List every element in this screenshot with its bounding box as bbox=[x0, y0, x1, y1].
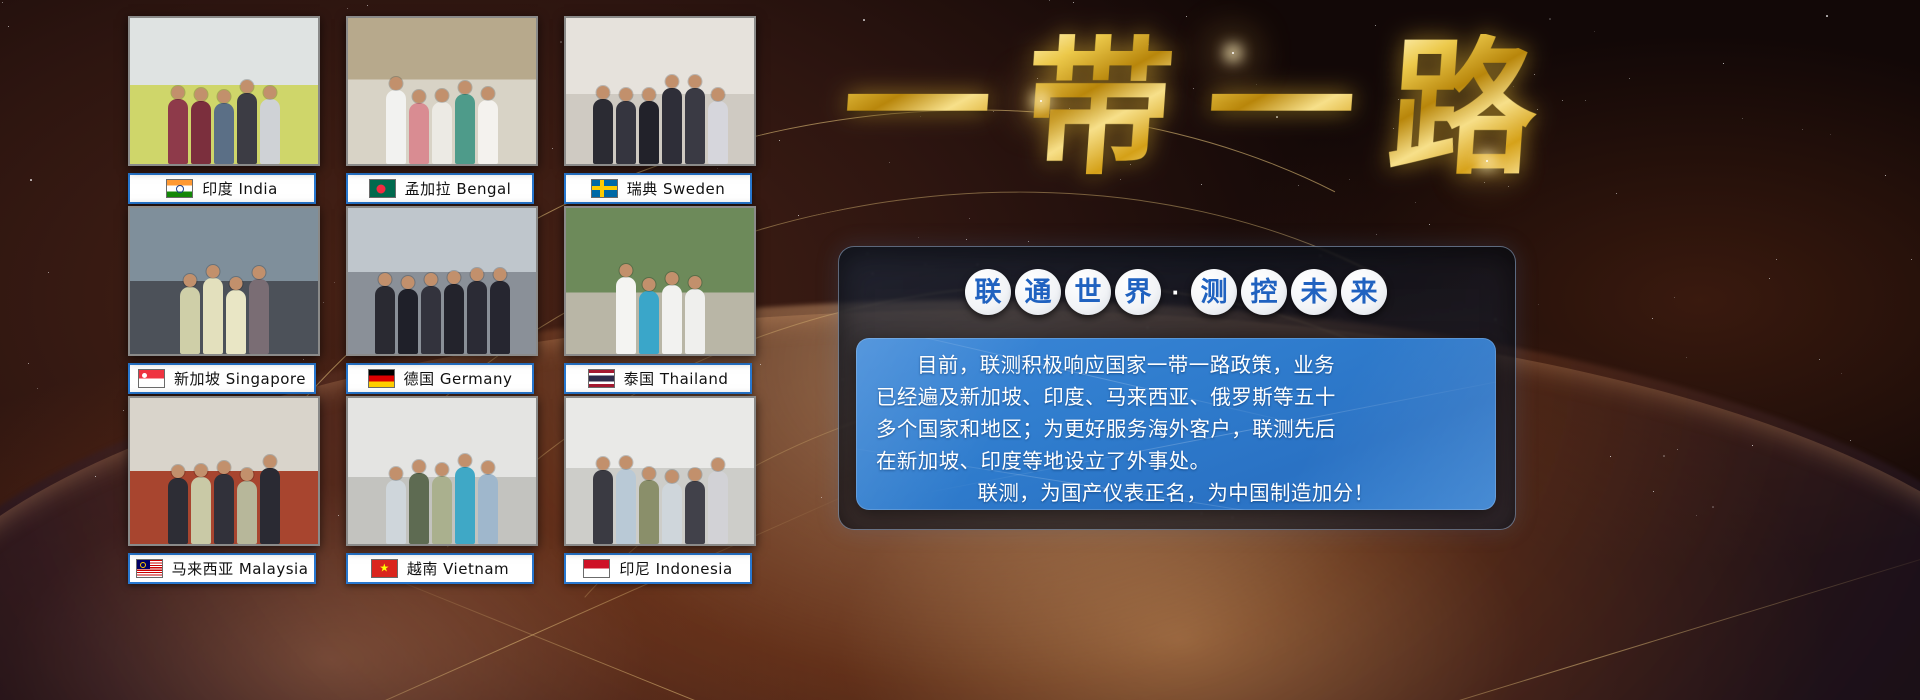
photo-person bbox=[639, 480, 659, 544]
slogan-separator: · bbox=[1165, 279, 1187, 305]
star-dot bbox=[1653, 491, 1654, 492]
country-label: 越南 Vietnam bbox=[407, 558, 509, 579]
slogan-badge: 世 bbox=[1065, 269, 1111, 315]
country-caption[interactable]: 印尼 Indonesia bbox=[564, 553, 752, 584]
photo-person bbox=[708, 101, 728, 164]
slogan-badge: 未 bbox=[1291, 269, 1337, 315]
star-dot bbox=[1742, 118, 1743, 119]
star-dot bbox=[918, 237, 919, 238]
photo-person bbox=[260, 468, 280, 544]
sparkle-icon bbox=[1232, 52, 1234, 54]
singapore-flag bbox=[138, 369, 165, 388]
photo-person bbox=[237, 93, 257, 164]
star-dot bbox=[1562, 100, 1563, 101]
slogan-badge: 界 bbox=[1115, 269, 1161, 315]
photo-group bbox=[566, 59, 754, 164]
photo-person bbox=[375, 286, 395, 354]
star-dot bbox=[1549, 18, 1551, 20]
photo-group bbox=[130, 59, 318, 164]
country-label: 德国 Germany bbox=[404, 368, 513, 389]
photo-person bbox=[409, 473, 429, 544]
photo-person bbox=[214, 474, 234, 544]
photo-person bbox=[616, 101, 636, 164]
photo-person bbox=[444, 284, 464, 354]
photo-person bbox=[662, 483, 682, 544]
description-line: 在新加坡、印度等地设立了外事处。 bbox=[876, 445, 1476, 477]
star-dot bbox=[779, 140, 780, 141]
photo-person bbox=[421, 286, 441, 354]
star-dot bbox=[28, 363, 29, 364]
gallery-item[interactable]: 孟加拉 Bengal bbox=[346, 16, 534, 204]
gallery-item[interactable]: 马来西亚 Malaysia bbox=[128, 396, 316, 584]
slogan-badge: 来 bbox=[1341, 269, 1387, 315]
photo-person bbox=[685, 88, 705, 164]
star-dot bbox=[1776, 259, 1777, 260]
star-dot bbox=[1585, 100, 1586, 101]
country-label: 印尼 Indonesia bbox=[619, 558, 732, 579]
slogan-badge: 测 bbox=[1191, 269, 1237, 315]
photo-person bbox=[616, 277, 636, 354]
country-photo[interactable] bbox=[346, 16, 538, 166]
country-caption[interactable]: 新加坡 Singapore bbox=[128, 363, 316, 394]
photo-person bbox=[490, 281, 510, 354]
country-photo[interactable] bbox=[128, 16, 320, 166]
photo-person bbox=[203, 278, 223, 354]
country-photo[interactable] bbox=[564, 206, 756, 356]
country-photo[interactable] bbox=[346, 396, 538, 546]
photo-person bbox=[467, 281, 487, 354]
photo-group bbox=[348, 249, 536, 354]
star-dot bbox=[1616, 193, 1617, 194]
photo-person bbox=[249, 279, 269, 354]
photo-person bbox=[432, 102, 452, 164]
country-label: 瑞典 Sweden bbox=[627, 178, 726, 199]
photo-person bbox=[398, 289, 418, 354]
country-caption[interactable]: 孟加拉 Bengal bbox=[346, 173, 534, 204]
sweden-flag bbox=[591, 179, 618, 198]
photo-person bbox=[409, 103, 429, 164]
country-caption[interactable]: 德国 Germany bbox=[346, 363, 534, 394]
slogan-badge: 控 bbox=[1241, 269, 1287, 315]
gallery-item[interactable]: 越南 Vietnam bbox=[346, 396, 534, 584]
photo-person bbox=[180, 287, 200, 354]
star-dot bbox=[798, 215, 799, 216]
slogan-badge: 联 bbox=[965, 269, 1011, 315]
photo-person bbox=[616, 469, 636, 544]
description-box: 目前，联测积极响应国家一带一路政策，业务 已经遍及新加坡、印度、马来西亚、俄罗斯… bbox=[856, 338, 1496, 510]
photo-person bbox=[237, 481, 257, 544]
description-line: 目前，联测积极响应国家一带一路政策，业务 bbox=[876, 349, 1476, 381]
vietnam-flag bbox=[371, 559, 398, 578]
star-dot bbox=[48, 272, 49, 273]
photo-person bbox=[639, 291, 659, 354]
country-label: 孟加拉 Bengal bbox=[405, 178, 512, 199]
photo-person bbox=[662, 88, 682, 164]
photo-person bbox=[478, 100, 498, 164]
germany-flag bbox=[368, 369, 395, 388]
photo-person bbox=[260, 99, 280, 164]
photo-person bbox=[386, 480, 406, 544]
gallery-item[interactable]: 印尼 Indonesia bbox=[564, 396, 752, 584]
photo-person bbox=[214, 103, 234, 164]
photo-group bbox=[566, 249, 754, 354]
star-dot bbox=[1610, 456, 1611, 457]
photo-person bbox=[593, 470, 613, 544]
star-dot bbox=[1686, 357, 1687, 358]
country-caption[interactable]: 越南 Vietnam bbox=[346, 553, 534, 584]
star-dot bbox=[969, 218, 970, 219]
india-flag bbox=[166, 179, 193, 198]
gallery-item[interactable]: 泰国 Thailand bbox=[564, 206, 752, 394]
photo-person bbox=[685, 289, 705, 354]
star-dot bbox=[1677, 449, 1678, 450]
photo-person bbox=[639, 101, 659, 164]
country-label: 泰国 Thailand bbox=[624, 368, 729, 389]
star-dot bbox=[1712, 506, 1714, 508]
country-photo[interactable] bbox=[564, 16, 756, 166]
headline-calligraphy: 一 带 一 路 bbox=[840, 8, 1540, 208]
country-photo[interactable] bbox=[128, 206, 320, 356]
gallery-item[interactable]: 新加坡 Singapore bbox=[128, 206, 316, 394]
country-photo[interactable] bbox=[346, 206, 538, 356]
gallery-item[interactable]: 瑞典 Sweden bbox=[564, 16, 752, 204]
photo-person bbox=[455, 467, 475, 544]
photo-group bbox=[130, 249, 318, 354]
sparkle-icon bbox=[1486, 160, 1488, 162]
country-caption[interactable]: 泰国 Thailand bbox=[564, 363, 752, 394]
photo-person bbox=[432, 476, 452, 544]
malaysia-flag bbox=[136, 559, 163, 578]
photo-group bbox=[348, 59, 536, 164]
banner-stage: 印度 India孟加拉 Bengal瑞典 Sweden新加坡 Singapore… bbox=[0, 0, 1920, 700]
photo-group bbox=[130, 439, 318, 544]
star-dot bbox=[30, 179, 32, 181]
headline-char-4: 路 bbox=[1384, 34, 1542, 182]
star-dot bbox=[1830, 134, 1831, 135]
photo-person bbox=[191, 477, 211, 544]
gallery-item[interactable]: 印度 India bbox=[128, 16, 316, 204]
photo-person bbox=[662, 285, 682, 354]
photo-person bbox=[685, 481, 705, 544]
headline-char-2: 带 bbox=[1020, 34, 1178, 182]
star-dot bbox=[1885, 175, 1886, 176]
star-dot bbox=[1652, 318, 1653, 319]
photo-person bbox=[191, 101, 211, 164]
star-dot bbox=[1819, 359, 1820, 360]
star-dot bbox=[1850, 440, 1851, 441]
country-label: 马来西亚 Malaysia bbox=[172, 558, 309, 579]
photo-person bbox=[386, 90, 406, 164]
country-label: 印度 India bbox=[202, 178, 278, 199]
bangladesh-flag bbox=[369, 179, 396, 198]
thailand-flag bbox=[588, 369, 615, 388]
photo-person bbox=[168, 478, 188, 544]
star-dot bbox=[1826, 15, 1828, 17]
headline-char-3: 一 bbox=[1202, 34, 1360, 182]
photo-person bbox=[478, 474, 498, 544]
star-dot bbox=[966, 239, 967, 240]
star-dot bbox=[8, 26, 9, 27]
photo-person bbox=[455, 94, 475, 164]
photo-person bbox=[168, 99, 188, 164]
headline-char-1: 一 bbox=[838, 34, 996, 182]
photo-person bbox=[593, 99, 613, 164]
photo-group bbox=[348, 439, 536, 544]
description-line: 多个国家和地区；为更好服务海外客户，联测先后 bbox=[876, 413, 1476, 445]
description-line: 已经遍及新加坡、印度、马来西亚、俄罗斯等五十 bbox=[876, 381, 1476, 413]
slogan-badge: 通 bbox=[1015, 269, 1061, 315]
photo-group bbox=[566, 439, 754, 544]
gallery-item[interactable]: 德国 Germany bbox=[346, 206, 534, 394]
star-dot bbox=[1663, 455, 1665, 457]
country-photo[interactable] bbox=[564, 396, 756, 546]
indonesia-flag bbox=[583, 559, 610, 578]
description-line: 联测，为国产仪表正名，为中国制造加分！ bbox=[876, 477, 1476, 509]
description-text: 目前，联测积极响应国家一带一路政策，业务 已经遍及新加坡、印度、马来西亚、俄罗斯… bbox=[856, 338, 1496, 509]
photo-person bbox=[708, 471, 728, 544]
country-label: 新加坡 Singapore bbox=[174, 368, 306, 389]
slogan-badges: 联通世界·测控未来 bbox=[838, 260, 1514, 324]
country-caption[interactable]: 马来西亚 Malaysia bbox=[128, 553, 316, 584]
star-dot bbox=[1376, 234, 1377, 235]
photo-person bbox=[226, 290, 246, 354]
sparkle-icon bbox=[1040, 100, 1042, 102]
star-dot bbox=[1073, 2, 1074, 3]
country-caption[interactable]: 印度 India bbox=[128, 173, 316, 204]
star-dot bbox=[1769, 278, 1770, 279]
country-photo[interactable] bbox=[128, 396, 320, 546]
country-photo-grid: 印度 India孟加拉 Bengal瑞典 Sweden新加坡 Singapore… bbox=[128, 16, 758, 584]
country-caption[interactable]: 瑞典 Sweden bbox=[564, 173, 752, 204]
